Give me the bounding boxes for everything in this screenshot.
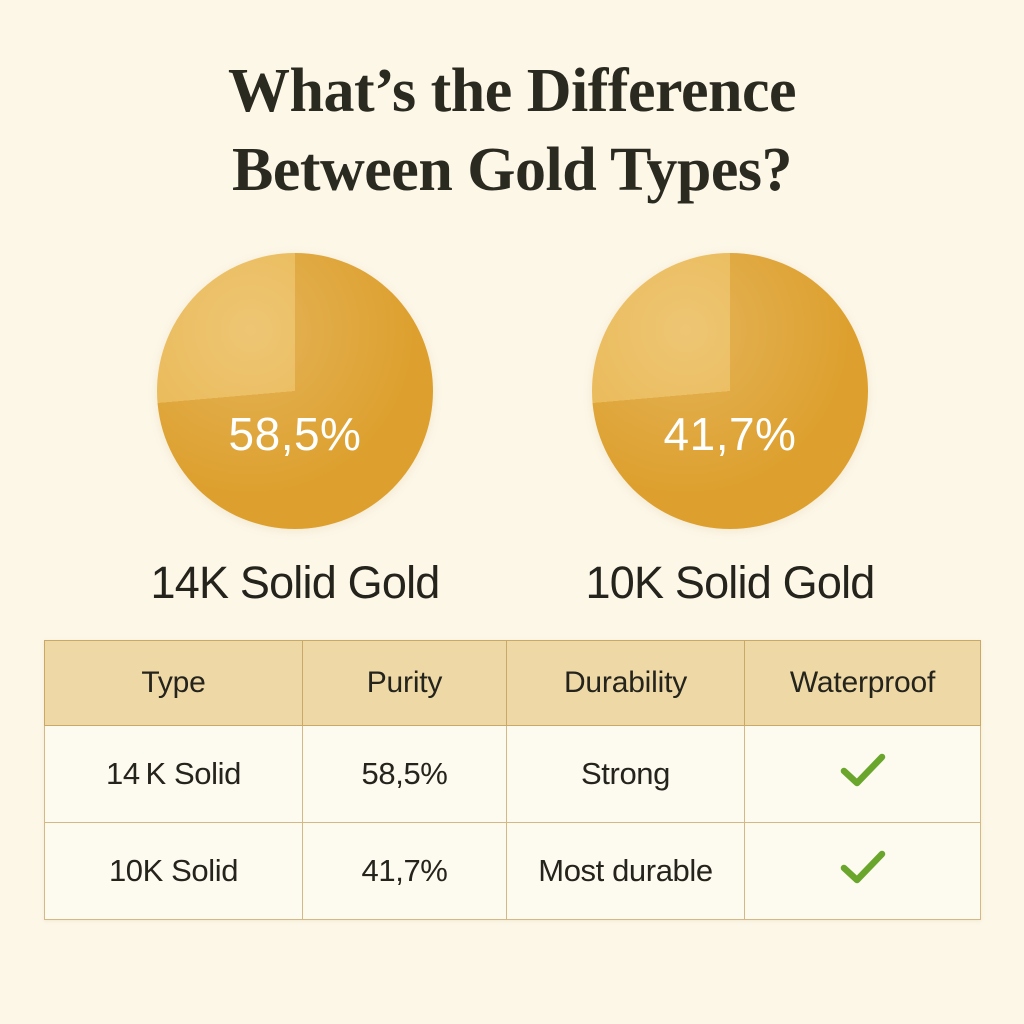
- table-header-durability: Durability: [507, 641, 745, 726]
- table-header-row: Type Purity Durability Waterproof: [45, 641, 981, 726]
- cell-waterproof-14k: [745, 726, 981, 823]
- page-title-line-1: What’s the Difference: [0, 52, 1024, 131]
- pie-caption-10k: 10K Solid Gold: [515, 557, 945, 609]
- check-icon: [840, 849, 886, 885]
- table-header-purity: Purity: [303, 641, 507, 726]
- cell-type-14k: 14 K Solid: [45, 726, 303, 823]
- check-icon: [840, 752, 886, 788]
- page-title: What’s the Difference Between Gold Types…: [0, 52, 1024, 211]
- pie-chart-icon-14k: 58,5%: [157, 253, 433, 529]
- pie-sheen-overlay: [157, 253, 433, 529]
- cell-purity-10k: 41,7%: [303, 823, 507, 920]
- pie-chart-icon-10k: 41,7%: [592, 253, 868, 529]
- pie-value-label-10k: 41,7%: [592, 411, 868, 457]
- pie-caption-14k: 14K Solid Gold: [80, 557, 510, 609]
- gold-comparison-table: Type Purity Durability Waterproof 14 K S…: [44, 640, 981, 920]
- table-header-waterproof: Waterproof: [745, 641, 981, 726]
- table-row: 14 K Solid 58,5% Strong: [45, 726, 981, 823]
- pie-charts-row: 58,5% 14K Solid Gold 41,7% 10K Solid Gol…: [0, 253, 1024, 593]
- cell-durability-14k: Strong: [507, 726, 745, 823]
- pie-value-label-14k: 58,5%: [157, 411, 433, 457]
- cell-waterproof-10k: [745, 823, 981, 920]
- chart-unit-10k: 41,7% 10K Solid Gold: [515, 253, 945, 609]
- cell-type-10k: 10K Solid: [45, 823, 303, 920]
- cell-purity-14k: 58,5%: [303, 726, 507, 823]
- page-title-line-2: Between Gold Types?: [0, 131, 1024, 210]
- chart-unit-14k: 58,5% 14K Solid Gold: [80, 253, 510, 609]
- pie-sheen-overlay: [592, 253, 868, 529]
- table-row: 10K Solid 41,7% Most durable: [45, 823, 981, 920]
- gold-types-infographic: What’s the Difference Between Gold Types…: [0, 0, 1024, 1024]
- table-header-type: Type: [45, 641, 303, 726]
- cell-durability-10k: Most durable: [507, 823, 745, 920]
